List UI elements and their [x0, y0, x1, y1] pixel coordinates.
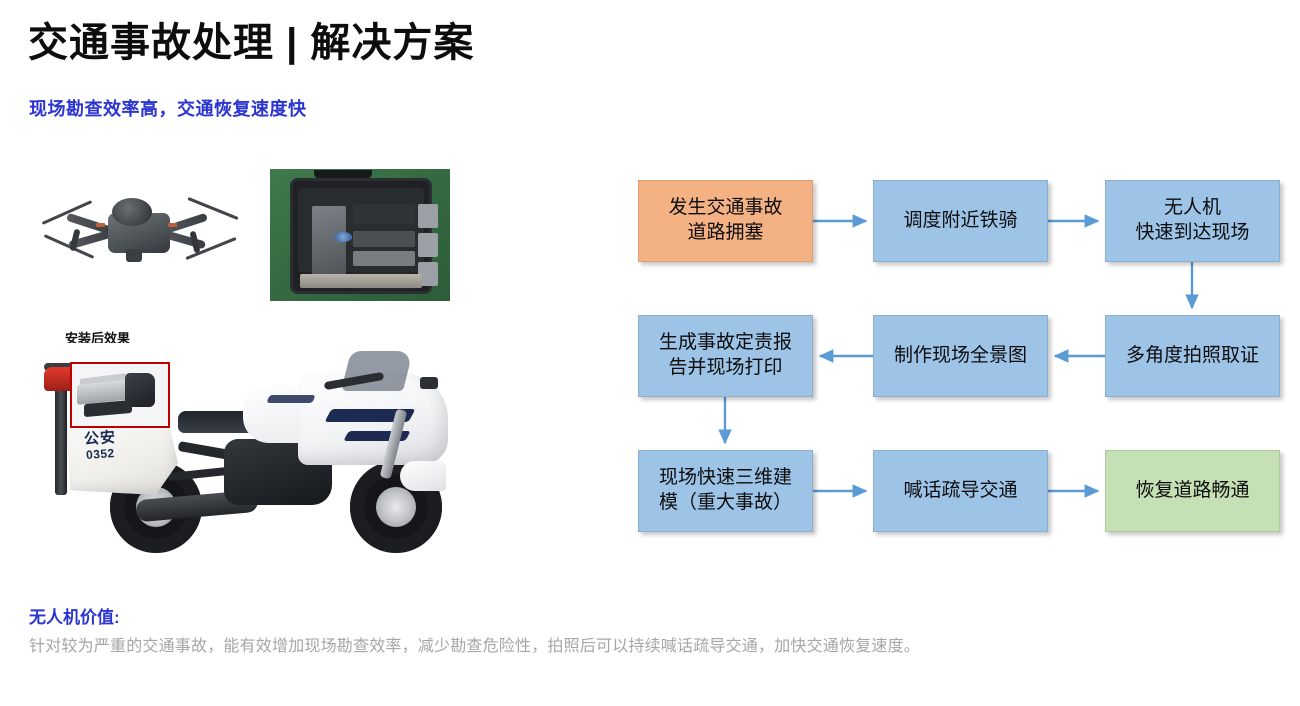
drone-accent [168, 223, 177, 227]
drone-case-photo [270, 169, 450, 301]
page-title: 交通事故处理 | 解决方案 [28, 20, 474, 66]
case-lid-strip [300, 274, 422, 288]
media-column: 安装后效果 公安 0352 [20, 165, 490, 565]
case-slot-battery [418, 204, 438, 228]
drone-accent [96, 223, 105, 227]
flow-node-3d-modeling[interactable]: 现场快速三维建 模（重大事故） [638, 450, 813, 532]
mirror [420, 377, 438, 389]
motorcycle-unit-number: 0352 [86, 446, 116, 462]
flow-node-drone-arrives[interactable]: 无人机 快速到达现场 [1105, 180, 1280, 262]
front-rim [376, 487, 416, 527]
case-shell [290, 178, 432, 294]
drone-gimbal [126, 249, 142, 262]
case-slot-drone [312, 206, 346, 280]
front-mudguard [400, 461, 446, 491]
case-slot-accessory [353, 251, 415, 266]
flow-node-accident-occurs[interactable]: 发生交通事故 道路拥塞 [638, 180, 813, 262]
drone-value-heading: 无人机价值: [29, 603, 120, 628]
flow-node-generate-report[interactable]: 生成事故定责报 告并现场打印 [638, 315, 813, 397]
case-slot-battery [418, 233, 438, 257]
flow-node-multi-angle-photos[interactable]: 多角度拍照取证 [1105, 315, 1280, 397]
livery-stripe [266, 395, 315, 403]
page-subtitle: 现场勘查效率高，交通恢复速度快 [29, 95, 307, 121]
case-slot-controller [353, 204, 415, 224]
drone-photo [34, 173, 249, 288]
police-motorcycle-photo: 公安 0352 [28, 343, 484, 565]
flow-node-create-panorama[interactable]: 制作现场全景图 [873, 315, 1048, 397]
beacon-pole [55, 387, 67, 495]
drone-value-body: 针对较为严重的交通事故，能有效增加现场勘查效率，减少勘查危险性，拍照后可以持续喊… [29, 632, 1285, 662]
mount-base [84, 400, 132, 417]
case-foam-insert [298, 188, 424, 272]
police-emblem-icon [334, 232, 352, 242]
flow-node-road-restored[interactable]: 恢复道路畅通 [1105, 450, 1280, 532]
flow-node-dispatch-patrol[interactable]: 调度附近铁骑 [873, 180, 1048, 262]
flow-node-traffic-announcement[interactable]: 喊话疏导交通 [873, 450, 1048, 532]
drone-mount-inset [70, 362, 170, 428]
case-slot-accessory [353, 231, 415, 247]
workflow-diagram: 发生交通事故 道路拥塞 调度附近铁骑 无人机 快速到达现场 生成事故定责报 告并… [600, 160, 1300, 560]
drone-camera [112, 198, 152, 226]
